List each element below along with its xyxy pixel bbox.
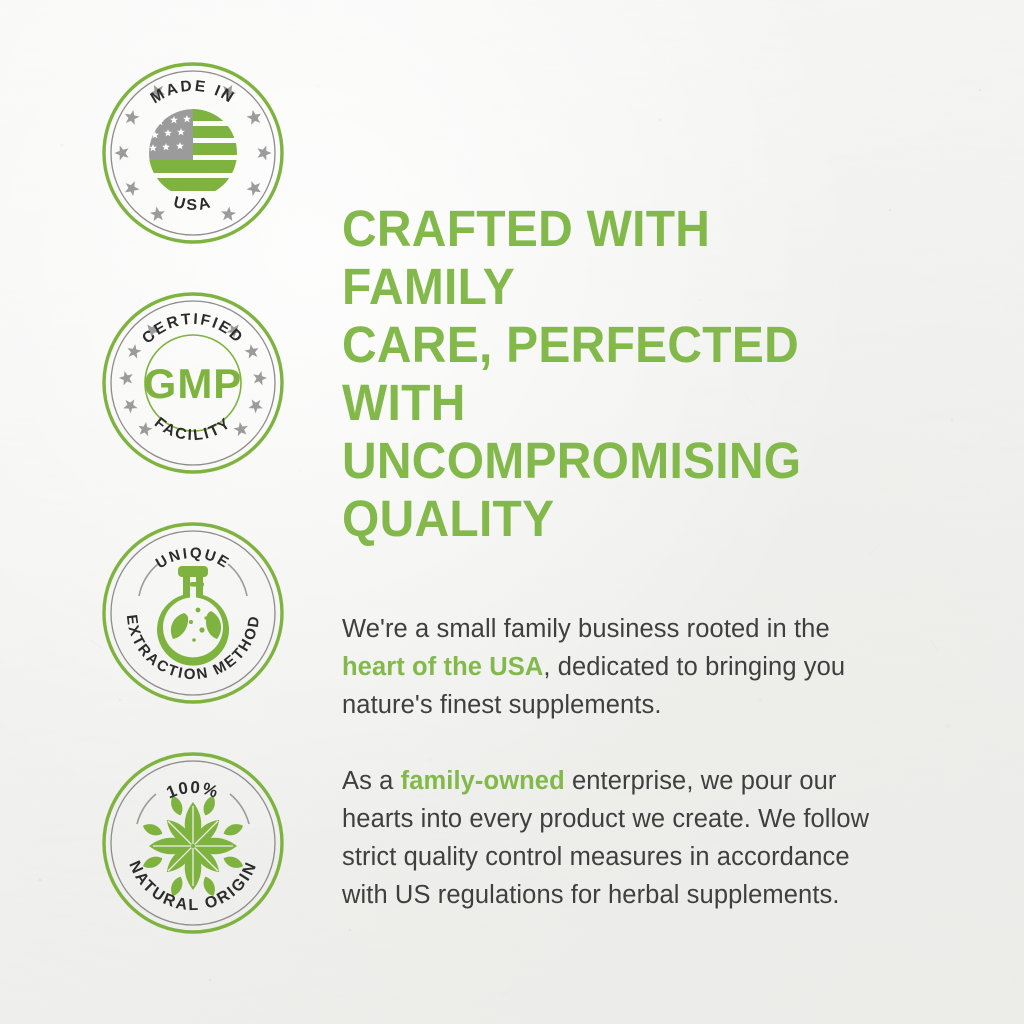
emphasis-text: family-owned — [401, 767, 565, 795]
headline-line: QUALITY — [342, 490, 554, 547]
badge-top-label: MADE IN — [148, 78, 238, 108]
headline-line: CRAFTED WITH FAMILY — [342, 200, 710, 315]
badge-top-label: 100% — [164, 778, 222, 803]
body-text: We're a small family business rooted in … — [342, 615, 830, 643]
page-title: CRAFTED WITH FAMILYCARE, PERFECTED WITHU… — [342, 200, 878, 548]
body-text: As a — [342, 767, 401, 795]
badge-unique-extraction-method: UNIQUE EXTRACTION METHOD — [98, 518, 288, 708]
trust-badges-column: MADE IN USA — [0, 0, 330, 1024]
badge-top-label: CERTIFIED — [139, 311, 247, 348]
page-root: MADE IN USA — [0, 0, 1024, 1024]
badge-bottom-label: EXTRACTION METHOD — [123, 614, 263, 684]
headline-line: UNCOMPROMISING — [342, 432, 801, 489]
paragraph-1: We're a small family business rooted in … — [342, 610, 872, 724]
flask-bubbles — [189, 608, 208, 642]
gmp-seal-icon: GMP CERTIFIED FACILITY — [98, 288, 288, 478]
usa-flag-circle-icon: MADE IN USA — [98, 58, 288, 248]
text-column: CRAFTED WITH FAMILYCARE, PERFECTED WITHU… — [330, 0, 1024, 1024]
badge-center-label: GMP — [144, 360, 243, 407]
badge-bottom-label: USA — [172, 194, 215, 214]
badge-gmp-certified-facility: GMP CERTIFIED FACILITY — [98, 288, 288, 478]
emphasis-text: heart of the USA — [342, 653, 543, 681]
flask-leaf-icon: UNIQUE EXTRACTION METHOD — [98, 518, 288, 708]
flask-leaves — [171, 611, 221, 639]
headline-line: CARE, PERFECTED WITH — [342, 316, 799, 431]
laboratory-flask — [157, 566, 229, 666]
leaf-rosette — [141, 794, 245, 898]
badge-made-in-usa: MADE IN USA — [98, 58, 288, 248]
badge-bottom-label: FACILITY — [151, 414, 235, 444]
badge-natural-origin: 100% NATURAL ORIGIN — [98, 748, 288, 938]
content-layout: MADE IN USA — [0, 0, 1024, 1024]
paragraph-2: As a family-owned enterprise, we pour ou… — [342, 762, 872, 914]
leaf-rosette-icon: 100% NATURAL ORIGIN — [98, 748, 288, 938]
